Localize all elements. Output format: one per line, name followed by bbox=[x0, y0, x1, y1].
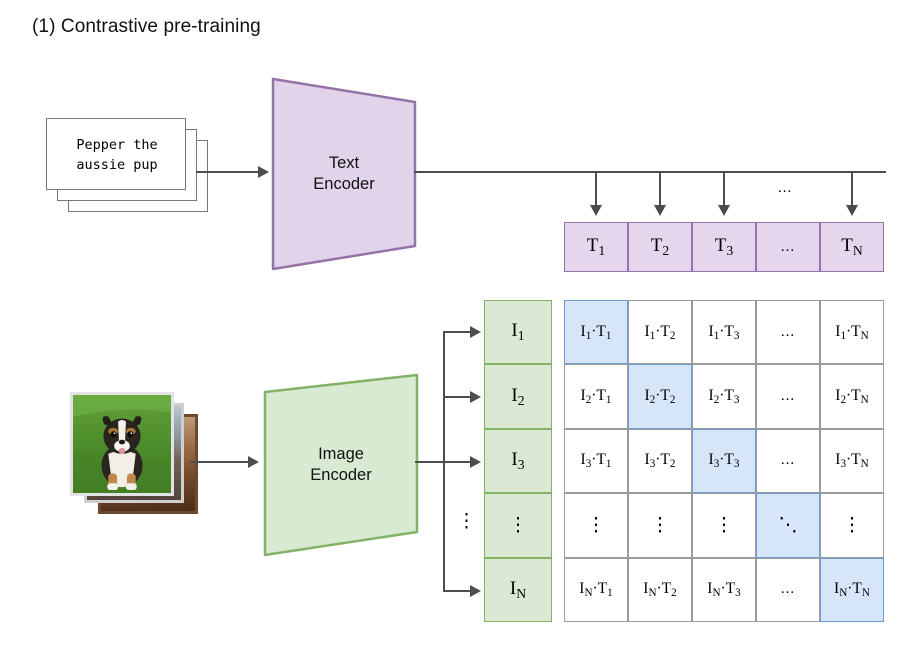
image-encoder-label-line-1: Image bbox=[318, 444, 364, 465]
similarity-cell-label: ⋮ bbox=[651, 516, 670, 535]
wire-image-to-encoder bbox=[190, 461, 250, 463]
puppy-photo bbox=[73, 395, 171, 493]
similarity-cell-label: ... bbox=[781, 452, 795, 469]
image-embedding-cell[interactable]: I2 bbox=[484, 364, 552, 428]
wire-image-branch-1 bbox=[443, 331, 473, 333]
similarity-cell-label: I3·T1 bbox=[581, 451, 612, 470]
text-encoder-label-line-2: Encoder bbox=[313, 174, 374, 195]
similarity-cell-label: IN·T2 bbox=[643, 580, 676, 599]
similarity-cell-label: ⋱ bbox=[779, 516, 798, 535]
page-title: (1) Contrastive pre-training bbox=[32, 14, 261, 40]
text-embedding-cell[interactable]: ... bbox=[756, 222, 820, 272]
image-embedding-column: I1I2I3⋮IN bbox=[484, 300, 552, 622]
wire-text-drop-3 bbox=[723, 171, 725, 207]
image-encoder-label: Image Encoder bbox=[262, 372, 420, 558]
text-card-content: Pepper the aussie pup bbox=[47, 119, 187, 191]
similarity-cell-r5-c3[interactable]: IN·T3 bbox=[692, 558, 756, 622]
similarity-cell-r2-c4[interactable]: ... bbox=[756, 364, 820, 428]
text-embedding-label-5: TN bbox=[841, 235, 862, 259]
text-sample-card-stack: Pepper the aussie pup bbox=[46, 118, 221, 208]
similarity-cell-label: I2·T3 bbox=[709, 387, 740, 406]
image-card-front bbox=[70, 392, 174, 496]
similarity-cell-r2-c5[interactable]: I2·TN bbox=[820, 364, 884, 428]
text-embedding-row: T1T2T3...TN bbox=[564, 222, 884, 272]
wire-image-branch-5 bbox=[443, 590, 473, 592]
similarity-cell-label: IN·TN bbox=[834, 580, 870, 599]
text-embedding-label-1: T1 bbox=[587, 235, 605, 259]
similarity-cell-label: I3·TN bbox=[835, 451, 868, 470]
similarity-cell-label: I3·T2 bbox=[645, 451, 676, 470]
similarity-cell-r3-c4[interactable]: ... bbox=[756, 429, 820, 493]
similarity-cell-r4-c5[interactable]: ⋮ bbox=[820, 493, 884, 557]
image-fanout-ellipsis: ⋮ bbox=[457, 512, 476, 531]
similarity-cell-label: ... bbox=[781, 324, 795, 341]
similarity-cell-label: I2·T2 bbox=[645, 387, 676, 406]
image-embedding-cell[interactable]: ⋮ bbox=[484, 493, 552, 557]
similarity-cell-label: I1·T3 bbox=[709, 323, 740, 342]
text-embedding-label-2: T2 bbox=[651, 235, 669, 259]
similarity-cell-label: ⋮ bbox=[587, 516, 606, 535]
image-embedding-cell[interactable]: IN bbox=[484, 558, 552, 622]
similarity-cell-label: I1·TN bbox=[835, 323, 868, 342]
similarity-cell-label: I3·T3 bbox=[709, 451, 740, 470]
similarity-cell-label: ... bbox=[781, 388, 795, 405]
image-embedding-label-4: ⋮ bbox=[509, 514, 528, 537]
text-embedding-cell[interactable]: TN bbox=[820, 222, 884, 272]
text-embedding-cell[interactable]: T1 bbox=[564, 222, 628, 272]
similarity-cell-r5-c2[interactable]: IN·T2 bbox=[628, 558, 692, 622]
wire-image-bus-stub bbox=[415, 461, 445, 463]
text-encoder-label: Text Encoder bbox=[270, 76, 418, 272]
arrowhead-text-drop-1 bbox=[590, 205, 602, 216]
image-embedding-label-1: I1 bbox=[511, 320, 524, 344]
similarity-cell-r3-c5[interactable]: I3·TN bbox=[820, 429, 884, 493]
similarity-cell-r4-c3[interactable]: ⋮ bbox=[692, 493, 756, 557]
similarity-cell-r4-c4[interactable]: ⋱ bbox=[756, 493, 820, 557]
arrowhead-image-branch-1 bbox=[470, 326, 481, 338]
image-sample-stack bbox=[70, 392, 210, 512]
arrowhead-text-drop-2 bbox=[654, 205, 666, 216]
text-embedding-cell[interactable]: T2 bbox=[628, 222, 692, 272]
text-encoder-block: Text Encoder bbox=[270, 76, 418, 272]
similarity-cell-label: I2·T1 bbox=[581, 387, 612, 406]
similarity-cell-label: I2·TN bbox=[835, 387, 868, 406]
arrowhead-text-drop-5 bbox=[846, 205, 858, 216]
image-embedding-label-3: I3 bbox=[511, 449, 524, 473]
wire-text-bus bbox=[414, 171, 886, 173]
wire-text-drop-1 bbox=[595, 171, 597, 207]
image-embedding-label-5: IN bbox=[510, 578, 526, 602]
wire-text-drop-2 bbox=[659, 171, 661, 207]
wire-text-to-encoder bbox=[196, 171, 260, 173]
arrowhead-text-drop-3 bbox=[718, 205, 730, 216]
arrowhead-image-branch-2 bbox=[470, 391, 481, 403]
arrowhead-text-to-encoder bbox=[258, 166, 269, 178]
similarity-cell-r4-c2[interactable]: ⋮ bbox=[628, 493, 692, 557]
similarity-cell-label: I1·T2 bbox=[645, 323, 676, 342]
similarity-cell-r1-c4[interactable]: ... bbox=[756, 300, 820, 364]
similarity-cell-label: I1·T1 bbox=[581, 323, 612, 342]
image-embedding-label-2: I2 bbox=[511, 385, 524, 409]
text-embedding-label-4: ... bbox=[781, 239, 795, 256]
wire-image-branch-3 bbox=[443, 461, 473, 463]
arrowhead-image-branch-5 bbox=[470, 585, 481, 597]
wire-image-branch-2 bbox=[443, 396, 473, 398]
similarity-cell-label: IN·T1 bbox=[579, 580, 612, 599]
text-embedding-label-3: T3 bbox=[715, 235, 733, 259]
wire-text-drop-5 bbox=[851, 171, 853, 207]
diagram-canvas: (1) Contrastive pre-training Pepper the … bbox=[0, 0, 906, 654]
similarity-cell-r2-c2[interactable]: I2·T2 bbox=[628, 364, 692, 428]
text-fanout-ellipsis: ... bbox=[778, 180, 792, 197]
similarity-cell-label: IN·T3 bbox=[707, 580, 740, 599]
similarity-cell-r3-c3[interactable]: I3·T3 bbox=[692, 429, 756, 493]
arrowhead-image-to-encoder bbox=[248, 456, 259, 468]
image-encoder-label-line-2: Encoder bbox=[310, 465, 371, 486]
similarity-cell-label: ⋮ bbox=[843, 516, 862, 535]
text-embedding-cell[interactable]: T3 bbox=[692, 222, 756, 272]
text-card-line-1: Pepper the bbox=[76, 135, 157, 155]
similarity-cell-label: ⋮ bbox=[715, 516, 734, 535]
similarity-cell-r1-c1[interactable]: I1·T1 bbox=[564, 300, 628, 364]
similarity-matrix: I1·T1I1·T2I1·T3...I1·TNI2·T1I2·T2I2·T3..… bbox=[564, 300, 884, 622]
similarity-cell-r3-c2[interactable]: I3·T2 bbox=[628, 429, 692, 493]
arrowhead-image-branch-3 bbox=[470, 456, 481, 468]
similarity-cell-r3-c1[interactable]: I3·T1 bbox=[564, 429, 628, 493]
similarity-cell-r4-c1[interactable]: ⋮ bbox=[564, 493, 628, 557]
text-card-front: Pepper the aussie pup bbox=[46, 118, 186, 190]
similarity-cell-r1-c3[interactable]: I1·T3 bbox=[692, 300, 756, 364]
text-encoder-label-line-1: Text bbox=[329, 153, 359, 174]
similarity-cell-r1-c2[interactable]: I1·T2 bbox=[628, 300, 692, 364]
text-card-line-2: aussie pup bbox=[76, 155, 157, 175]
similarity-cell-r5-c4[interactable]: ... bbox=[756, 558, 820, 622]
similarity-cell-r5-c1[interactable]: IN·T1 bbox=[564, 558, 628, 622]
similarity-cell-r2-c3[interactable]: I2·T3 bbox=[692, 364, 756, 428]
similarity-cell-r5-c5[interactable]: IN·TN bbox=[820, 558, 884, 622]
similarity-cell-r2-c1[interactable]: I2·T1 bbox=[564, 364, 628, 428]
similarity-cell-label: ... bbox=[781, 581, 795, 598]
image-embedding-cell[interactable]: I1 bbox=[484, 300, 552, 364]
image-embedding-cell[interactable]: I3 bbox=[484, 429, 552, 493]
image-encoder-block: Image Encoder bbox=[262, 372, 420, 558]
similarity-cell-r1-c5[interactable]: I1·TN bbox=[820, 300, 884, 364]
